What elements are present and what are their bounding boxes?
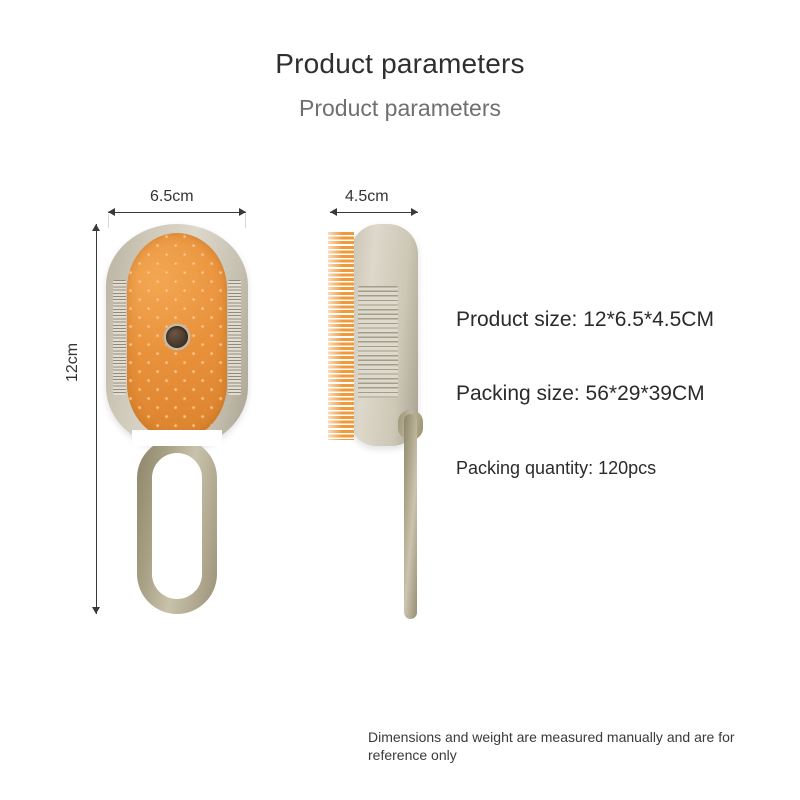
comb-teeth-left: [113, 280, 126, 395]
dimension-arrow-height: [91, 224, 102, 614]
arrow-line: [330, 212, 418, 213]
comb-teeth-right: [228, 280, 241, 395]
center-hole: [166, 326, 188, 348]
arrow-head-right-icon: [411, 208, 418, 216]
arrow-head-bottom-icon: [92, 607, 100, 614]
dimension-arrow-depth: [330, 207, 418, 218]
arrow-line: [108, 212, 246, 213]
footnote-disclaimer: Dimensions and weight are measured manua…: [368, 728, 788, 764]
spec-product-size: Product size: 12*6.5*4.5CM: [456, 308, 714, 332]
handle-loop: [137, 438, 217, 614]
infographic-canvas: Product parameters Product parameters 6.…: [0, 0, 800, 800]
brush-body-front: [106, 224, 248, 449]
handle-top-mask: [132, 430, 222, 446]
comb-grooves-side: [358, 286, 398, 398]
dimension-label-width: 6.5cm: [150, 188, 194, 206]
brush-bristles: [328, 232, 354, 440]
dimension-label-height: 12cm: [64, 343, 82, 382]
page-title: Product parameters: [0, 48, 800, 80]
product-front-view: [106, 224, 248, 614]
handle-side-bar: [404, 414, 417, 619]
dimension-label-depth: 4.5cm: [345, 188, 389, 206]
product-side-view: [328, 224, 448, 619]
page-subtitle: Product parameters: [0, 95, 800, 122]
spec-packing-size: Packing size: 56*29*39CM: [456, 382, 705, 406]
spec-packing-quantity: Packing quantity: 120pcs: [456, 458, 656, 479]
arrow-line: [96, 224, 97, 614]
dimension-arrow-width: [108, 207, 246, 218]
